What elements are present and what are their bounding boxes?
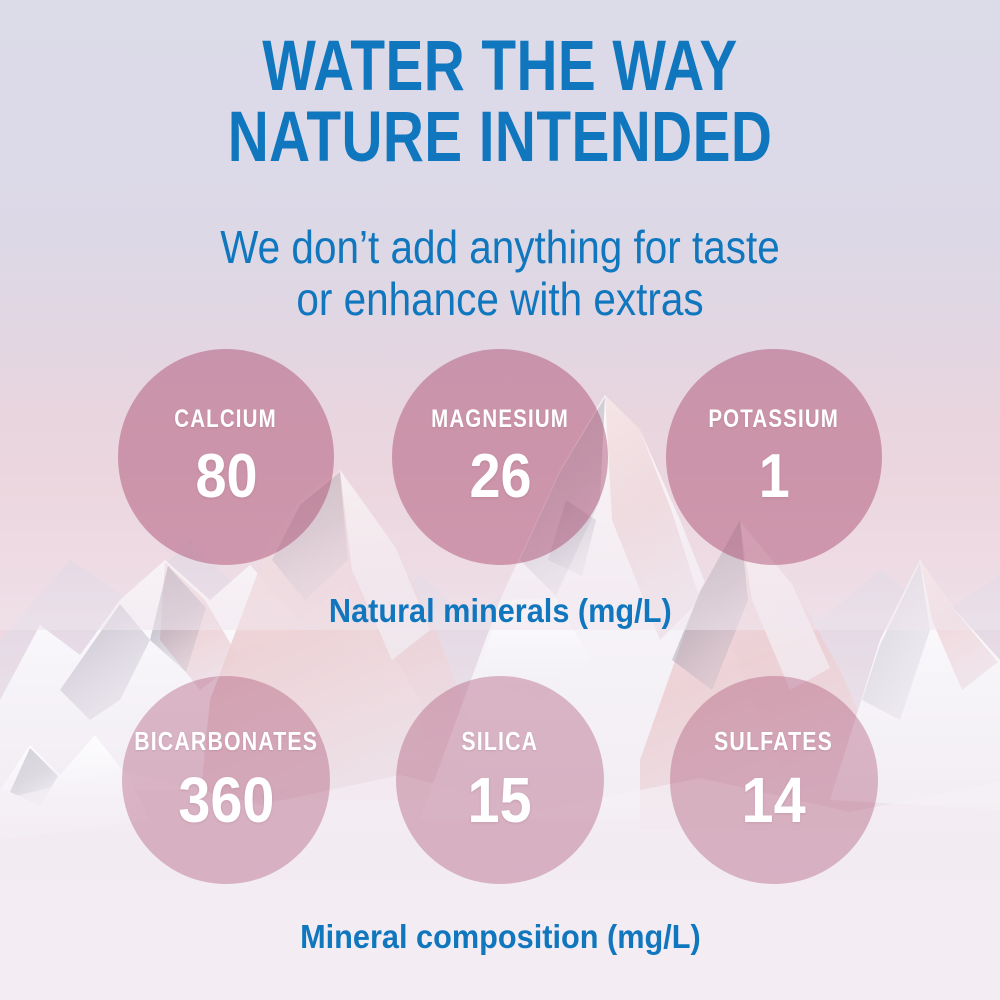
infographic-poster: WATER THE WAY NATURE INTENDED We don’t a… (0, 0, 1000, 1000)
mineral-circle-magnesium[interactable]: MAGNESIUM 26 (392, 349, 608, 565)
caption-mineral-composition: Mineral composition (mg/L) (0, 918, 1000, 956)
mineral-value: 80 (195, 446, 257, 508)
headline-line-1: WATER THE WAY (100, 34, 900, 99)
mineral-value: 360 (178, 768, 274, 832)
caption-natural-minerals: Natural minerals (mg/L) (0, 592, 1000, 630)
subtitle: We don’t add anything for taste or enhan… (0, 222, 1000, 325)
headline-line-2: NATURE INTENDED (100, 105, 900, 170)
subtitle-line-1: We don’t add anything for taste (60, 222, 940, 274)
caption-text: Mineral composition (mg/L) (300, 918, 701, 956)
mineral-circle-sulfates[interactable]: SULFATES 14 (670, 676, 878, 884)
mineral-value: 15 (468, 768, 532, 832)
mineral-circle-potassium[interactable]: POTASSIUM 1 (666, 349, 882, 565)
mineral-label: POTASSIUM (709, 407, 840, 432)
mineral-circle-silica[interactable]: SILICA 15 (396, 676, 604, 884)
page-title: WATER THE WAY NATURE INTENDED (0, 34, 1000, 171)
mineral-value: 1 (758, 446, 789, 508)
mineral-circle-bicarbonates[interactable]: BICARBONATES 360 (122, 676, 330, 884)
mineral-circle-row-composition: BICARBONATES 360 SILICA 15 SULFATES 14 (0, 676, 1000, 896)
caption-text: Natural minerals (mg/L) (329, 592, 672, 630)
mineral-label: SILICA (462, 728, 539, 754)
mineral-label: SULFATES (715, 728, 834, 754)
mineral-circle-calcium[interactable]: CALCIUM 80 (118, 349, 334, 565)
mineral-label: BICARBONATES (134, 728, 318, 754)
mineral-value: 14 (742, 768, 806, 832)
mineral-label: MAGNESIUM (431, 407, 569, 432)
mineral-circle-row-natural: CALCIUM 80 MAGNESIUM 26 POTASSIUM 1 (0, 349, 1000, 569)
subtitle-line-2: or enhance with extras (60, 274, 940, 326)
mineral-label: CALCIUM (175, 407, 278, 432)
mineral-value: 26 (469, 446, 531, 508)
